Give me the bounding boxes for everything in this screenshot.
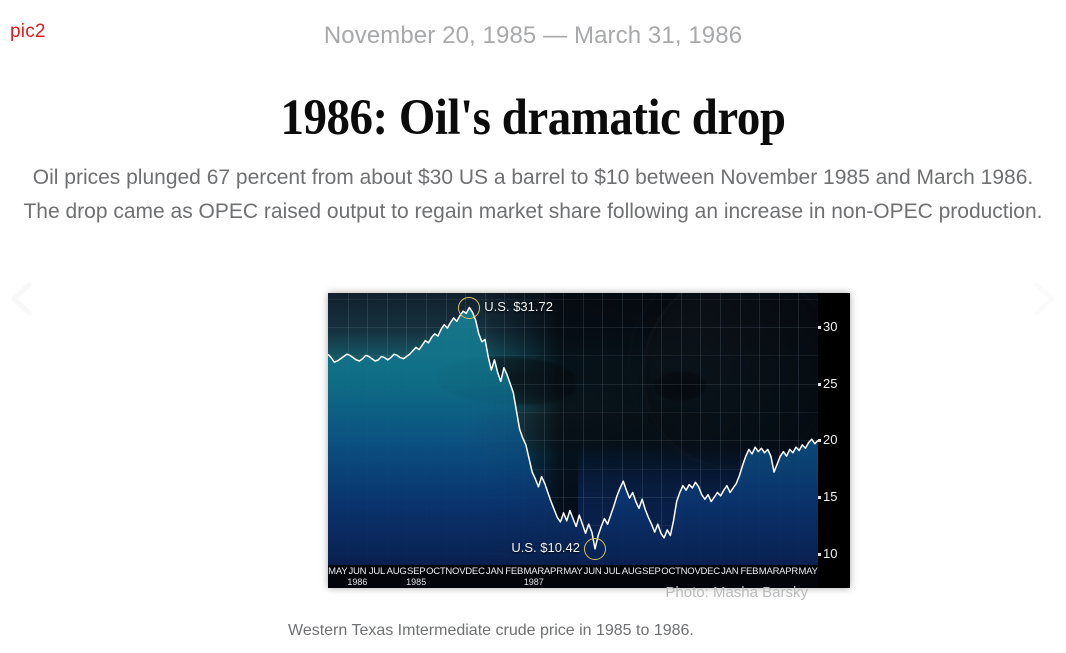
- chart-y-axis: 1015202530: [818, 293, 850, 588]
- y-axis-tick: 15: [818, 491, 837, 503]
- y-tick-dot: [818, 496, 821, 499]
- annotation-marker-high: [458, 297, 480, 319]
- chevron-left-icon[interactable]: [2, 278, 44, 320]
- oil-price-chart: U.S. $31.72 U.S. $10.42 1015202530 MAYJU…: [328, 293, 850, 588]
- article-kicker: November 20, 1985 — March 31, 1986: [0, 22, 1066, 50]
- price-area-fill: [328, 308, 818, 565]
- x-axis-month-label: SEP: [407, 566, 425, 577]
- x-axis-month-label: SEP: [642, 566, 660, 577]
- x-axis-month-label: MAY: [799, 566, 818, 577]
- y-axis-tick: 30: [818, 321, 837, 333]
- x-axis-month-label: MAR: [524, 566, 545, 577]
- chart-figure: U.S. $31.72 U.S. $10.42 1015202530 MAYJU…: [328, 293, 850, 588]
- chevron-right-icon[interactable]: [1022, 278, 1064, 320]
- x-axis-month-label: APR: [544, 566, 563, 577]
- photo-credit: Photo: Masha Barsky: [0, 584, 808, 601]
- chart-plot-area: U.S. $31.72 U.S. $10.42: [328, 293, 818, 565]
- y-axis-tick: 10: [818, 548, 837, 560]
- page-root: pic2 November 20, 1985 — March 31, 1986 …: [0, 0, 1066, 653]
- y-tick-label: 25: [823, 376, 837, 391]
- x-axis-month-label: AUG: [387, 566, 407, 577]
- annotation-label-high: U.S. $31.72: [484, 299, 553, 314]
- y-tick-label: 10: [823, 546, 837, 561]
- y-tick-dot: [818, 326, 821, 329]
- annotation-marker-low: [584, 538, 606, 560]
- x-axis-month-label: JAN: [486, 566, 503, 577]
- x-axis-month-label: AUG: [622, 566, 642, 577]
- y-axis-tick: 25: [818, 378, 837, 390]
- x-axis-month-label: OCT: [661, 566, 680, 577]
- figure-caption: Western Texas Imtermediate crude price i…: [288, 622, 694, 640]
- page-title: 1986: Oil's dramatic drop: [43, 89, 1024, 147]
- y-tick-dot: [818, 439, 821, 442]
- y-tick-label: 20: [823, 432, 837, 447]
- x-axis-month-label: DEC: [465, 566, 484, 577]
- article-standfirst: Oil prices plunged 67 percent from about…: [16, 161, 1050, 229]
- y-tick-label: 30: [823, 319, 837, 334]
- x-axis-month-label: FEB: [505, 566, 523, 577]
- x-axis-month-label: FEB: [740, 566, 758, 577]
- x-axis-month-label: JUN: [348, 566, 366, 577]
- y-tick-dot: [818, 383, 821, 386]
- y-tick-label: 15: [823, 489, 837, 504]
- y-tick-dot: [818, 553, 821, 556]
- y-axis-tick: 20: [818, 434, 837, 446]
- x-axis-month-label: JUN: [584, 566, 602, 577]
- x-axis-month-label: OCT: [426, 566, 445, 577]
- x-axis-month-label: APR: [779, 566, 798, 577]
- x-axis-month-label: JUL: [604, 566, 620, 577]
- x-axis-month-label: JUL: [369, 566, 385, 577]
- x-axis-month-label: MAY: [328, 566, 347, 577]
- annotation-label-low: U.S. $10.42: [511, 540, 580, 555]
- price-series: [328, 293, 818, 565]
- x-axis-month-label: MAY: [563, 566, 582, 577]
- x-axis-month-label: NOV: [681, 566, 701, 577]
- x-axis-month-label: NOV: [445, 566, 465, 577]
- x-axis-month-label: JAN: [721, 566, 738, 577]
- x-axis-month-label: MAR: [759, 566, 780, 577]
- x-axis-month-label: DEC: [700, 566, 719, 577]
